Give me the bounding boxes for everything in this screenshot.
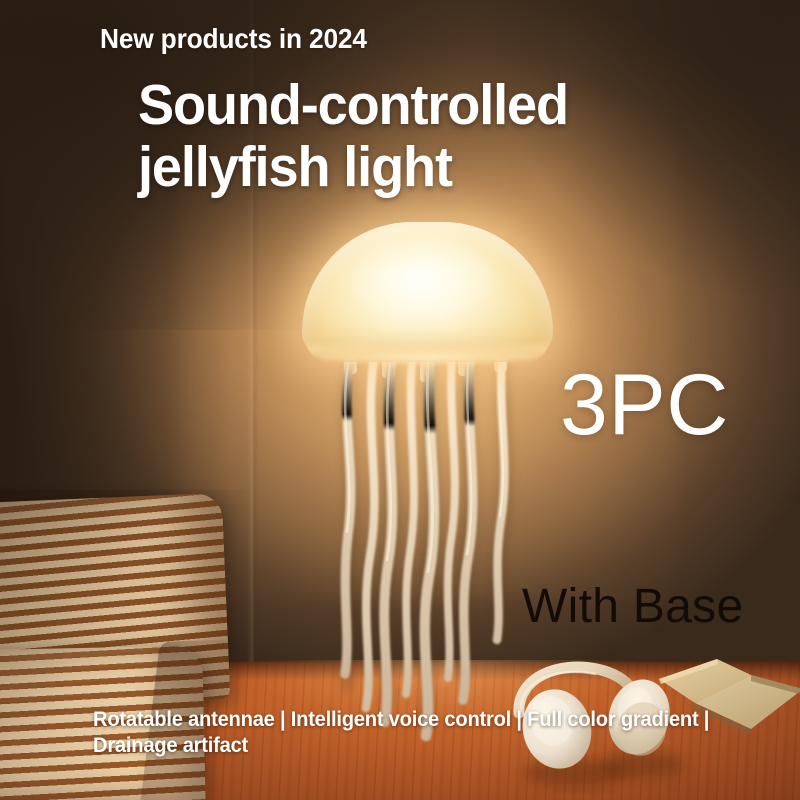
feature-list-text: Rotatable antennae | Intelligent voice c… <box>93 707 727 758</box>
headline-line-2: jellyfish light <box>138 136 568 198</box>
headline-line-1: Sound-controlled <box>138 74 568 136</box>
quantity-badge: 3PC <box>560 362 729 448</box>
eyebrow-text: New products in 2024 <box>100 23 367 55</box>
with-base-badge: With Base <box>522 583 743 631</box>
product-ad-image: New products in 2024 Sound-controlled je… <box>0 0 800 800</box>
page-title: Sound-controlled jellyfish light <box>138 74 568 198</box>
